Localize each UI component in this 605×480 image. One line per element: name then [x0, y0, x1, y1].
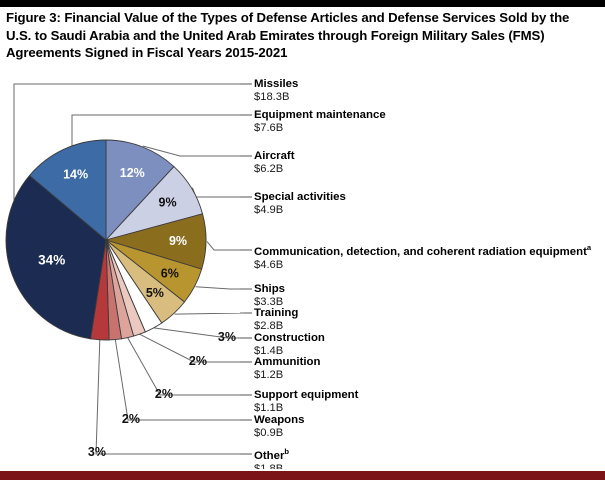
pie-chart-area: 12%9%9%6%5%34%14%3%2%2%2%3%: [0, 66, 605, 470]
leader-line: [115, 340, 240, 420]
pie-slice-percent-label: 5%: [146, 286, 164, 300]
pie-slice-percent-label: 14%: [63, 168, 88, 182]
pie-slice-percent-label: 2%: [155, 387, 173, 401]
figure-container: Figure 3: Financial Value of the Types o…: [0, 0, 605, 480]
pie-slice-percent-label: 3%: [88, 445, 106, 459]
pie-slice-percent-label: 9%: [159, 196, 177, 210]
leader-line: [192, 188, 240, 197]
pie-slice-percent-label: 34%: [38, 252, 65, 267]
leader-line: [207, 242, 240, 250]
pie-chart-svg: 12%9%9%6%5%34%14%3%2%2%2%3%: [0, 66, 605, 470]
leader-line: [175, 313, 244, 314]
pie-slice-percent-label: 12%: [120, 166, 145, 180]
bottom-divider-rule: [0, 471, 605, 480]
leader-line: [128, 338, 240, 395]
pie-slice-percent-label: 2%: [189, 354, 207, 368]
pie-slice-percent-label: 3%: [218, 330, 236, 344]
pie-slice-percent-label: 9%: [169, 234, 187, 248]
figure-title: Figure 3: Financial Value of the Types o…: [6, 9, 596, 62]
leader-line: [196, 287, 241, 289]
pie-slice-percent-label: 6%: [161, 266, 179, 280]
pie-slice-percent-label: 2%: [122, 412, 140, 426]
top-divider-rule: [0, 0, 605, 7]
